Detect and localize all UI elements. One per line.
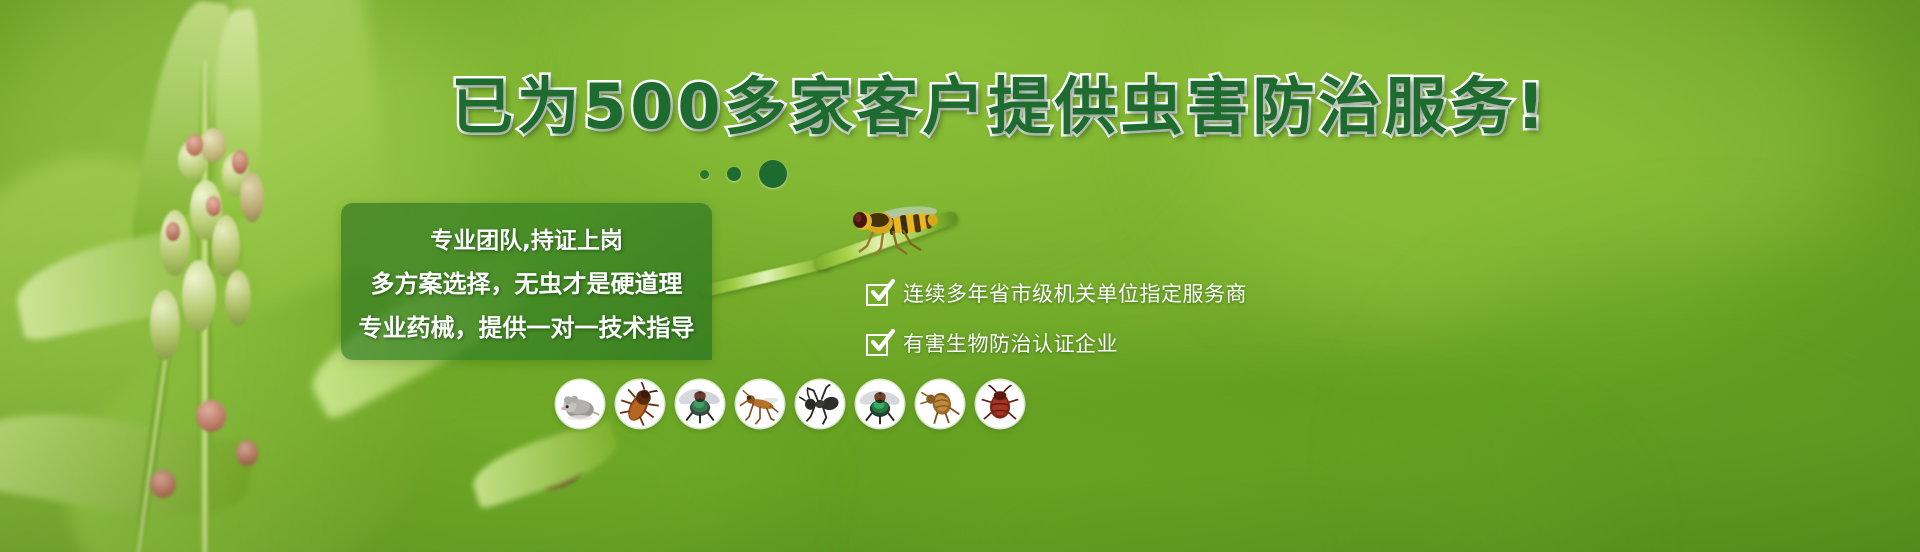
mosquito-icon[interactable]: [736, 380, 784, 428]
credential-label: 有害生物防治认证企业: [903, 328, 1118, 358]
claim-line-3: 专业药械，提供一对一技术指导: [359, 308, 695, 343]
checkbox-checked-icon: [866, 281, 891, 306]
ant-icon[interactable]: [796, 380, 844, 428]
claims-panel-text: 专业团队,持证上岗 多方案选择，无虫才是硬道理 专业药械，提供一对一技术指导: [341, 203, 712, 360]
credentials-list: 连续多年省市级机关单位指定服务商 有害生物防治认证企业: [866, 272, 1247, 372]
dot-small-icon: [700, 170, 709, 179]
promo-banner: 已为500多家客户提供虫害防治服务! 专业团队,持证上岗 多方案选择，无虫才是硬…: [0, 0, 1920, 552]
green-fly-icon[interactable]: [856, 380, 904, 428]
cockroach-icon[interactable]: [616, 380, 664, 428]
dot-medium-icon: [727, 167, 741, 181]
fly-icon[interactable]: [676, 380, 724, 428]
checkbox-checked-icon: [866, 331, 891, 356]
bedbug-icon[interactable]: [976, 380, 1024, 428]
dot-large-icon: [759, 160, 787, 188]
pest-type-list: [556, 380, 1024, 428]
page-title: 已为500多家客户提供虫害防治服务!: [0, 76, 1920, 138]
credential-label: 连续多年省市级机关单位指定服务商: [903, 278, 1247, 308]
claim-line-2: 多方案选择，无虫才是硬道理: [371, 264, 683, 299]
list-item: 有害生物防治认证企业: [866, 322, 1247, 364]
mouse-icon[interactable]: [556, 380, 604, 428]
headline-text: 已为500多家客户提供虫害防治服务!: [451, 70, 1549, 143]
list-item: 连续多年省市级机关单位指定服务商: [866, 272, 1247, 314]
decorative-dots: [700, 160, 787, 188]
flea-icon[interactable]: [916, 380, 964, 428]
claim-line-1: 专业团队,持证上岗: [430, 221, 623, 255]
